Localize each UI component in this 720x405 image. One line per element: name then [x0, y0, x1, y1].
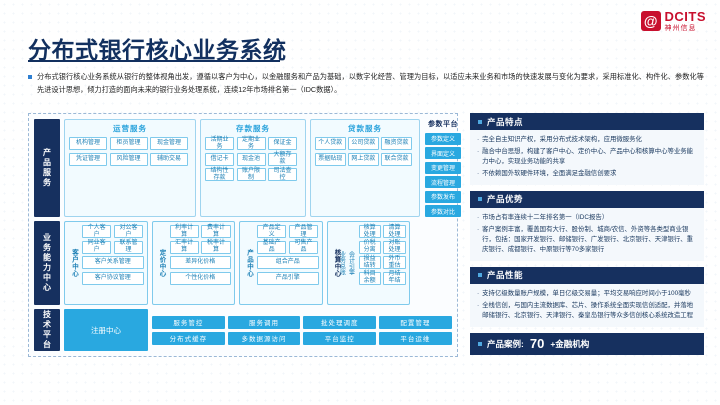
chip-structured-deposit[interactable]: 结构性存款 [205, 168, 234, 181]
card-title-product-performance: 产品性能 [487, 269, 523, 281]
chip-joint-loan[interactable]: 联合贷款 [381, 153, 412, 166]
group-title-loan: 贷款服务 [315, 123, 415, 134]
chip-tax-separation[interactable]: 价税分离 [359, 241, 381, 254]
card-header-product-performance: 产品性能 [470, 267, 704, 284]
chip-sellable-product[interactable]: 可售产品 [289, 241, 318, 254]
feature-point-1: 完全自主知识产权，采用分布式技术架构，应用微服务化 [482, 135, 697, 145]
band-label-tech-platform: 技术平台 [34, 309, 60, 351]
chip-interbank-customer[interactable]: 同业客户 [82, 241, 111, 254]
brand-logo-text: DCITS 神州信息 [665, 10, 707, 32]
card-product-features: 产品特点 ·完全自主知识产权，采用分布式技术架构，应用微服务化 ·融合中台思想，… [470, 113, 704, 185]
chip-account-limit[interactable]: 账户限制 [237, 168, 266, 181]
chip-cash-mgmt[interactable]: 现金管理 [150, 137, 188, 150]
tech-platform-monitor[interactable]: 平台监控 [303, 332, 376, 345]
card-body-product-features: ·完全自主知识产权，采用分布式技术架构，应用微服务化 ·融合中台思想，构建了客户… [470, 130, 704, 185]
chip-contact-mgmt[interactable]: 联系管理 [114, 241, 143, 254]
band-label-product-services: 产品服务 [34, 119, 60, 217]
chip-demand-deposit[interactable]: 活期业务 [205, 137, 234, 150]
chip-time-deposit[interactable]: 定期业务 [237, 137, 266, 150]
lead-paragraph: 分布式银行核心业务系统从银行的整体视角出发，遵循以客户为中心，以金融服务和产品为… [28, 70, 704, 97]
chip-base-product[interactable]: 基础产品 [257, 241, 286, 254]
center-accounting[interactable]: 核算中心 会计引擎 业务总账 核算处理 清算处理 价税分离 对账处理 [327, 221, 411, 305]
brand-logo: @ DCITS 神州信息 [641, 10, 707, 32]
info-panel: 产品特点 ·完全自主知识产权，采用分布式技术架构，应用微服务化 ·融合中台思想，… [470, 113, 704, 355]
band-product-services: 产品服务 运营服务 机构管理 柜员管理 现金管理 凭证管理 风险管理 辅助交易 [34, 119, 452, 217]
slide-page: @ DCITS 神州信息 分布式银行核心业务系统 分布式银行核心业务系统从银行的… [0, 0, 720, 405]
tech-config-mgmt[interactable]: 配置管理 [379, 316, 452, 329]
chip-corporate-customer[interactable]: 对公客户 [114, 225, 143, 238]
bullet-square-icon [28, 75, 32, 79]
dot-icon: · [477, 289, 479, 299]
case-number: 70 [530, 336, 544, 351]
chip-product-engine[interactable]: 产品引擎 [257, 272, 319, 285]
center-name-customer: 客户中心 [68, 225, 79, 301]
bullet-square-icon [478, 273, 482, 277]
tech-service-governance[interactable]: 服务管控 [152, 316, 225, 329]
center-product[interactable]: 产品中心 产品定义 产品管理 基础产品 可售产品 组合产品 产品引擎 [239, 221, 323, 305]
chip-large-deposit[interactable]: 大额存款 [268, 153, 297, 166]
chip-risk-mgmt[interactable]: 风险管理 [110, 153, 148, 166]
center-name-product: 产品中心 [243, 225, 254, 301]
case-label: 产品案例: [487, 338, 524, 350]
chip-differential-price[interactable]: 差异化价格 [170, 256, 232, 269]
band-label-capability-centers: 业务能力中心 [34, 221, 60, 305]
brand-name-en: DCITS [665, 10, 707, 23]
chip-fee-calc[interactable]: 费率计算 [201, 225, 230, 238]
case-suffix: +金融机构 [550, 338, 589, 350]
param-ui-define[interactable]: 界面定义 [425, 147, 461, 159]
chip-interest-calc[interactable]: 利率计算 [170, 225, 199, 238]
param-compare[interactable]: 参数对比 [425, 205, 461, 217]
advantage-point-1: 市场占有率连续十二年排名第一（IDC报告） [482, 213, 697, 223]
dot-icon: · [477, 213, 479, 223]
center-customer[interactable]: 客户中心 个人客户 对公客户 同业客户 联系管理 客户关系管理 客户协议管理 [64, 221, 148, 305]
card-product-cases: 产品案例: 70 +金融机构 [470, 333, 704, 355]
card-body-product-advantages: ·市场占有率连续十二年排名第一（IDC报告） ·客户案例丰富，覆盖国有大行、股份… [470, 208, 704, 261]
chip-aux-trade[interactable]: 辅助交易 [150, 153, 188, 166]
dot-icon: · [477, 301, 479, 321]
band-tech-platform: 技术平台 注册中心 服务管控 服务调用 批处理调度 配置管理 分布式缓存 多数据… [34, 309, 452, 351]
param-publish[interactable]: 参数发布 [425, 191, 461, 203]
chip-cash-pool[interactable]: 现金池 [237, 153, 266, 166]
card-header-product-advantages: 产品优势 [470, 191, 704, 208]
card-product-advantages: 产品优势 ·市场占有率连续十二年排名第一（IDC报告） ·客户案例丰富，覆盖国有… [470, 191, 704, 261]
list-item: ·完全自主知识产权，采用分布式技术架构，应用微服务化 [477, 135, 697, 145]
card-title-product-features: 产品特点 [487, 116, 523, 128]
chip-tax-calc[interactable]: 税率计算 [201, 241, 230, 254]
chip-margin[interactable]: 保证金 [268, 137, 297, 150]
performance-point-2: 全栈信创，与国内主流数据库、芯片、操作系统全面实现信创适配，并落地邮储银行、北京… [482, 301, 697, 321]
parameter-platform: 参数平台 参数定义 界面定义 变更管理 流程管理 参数发布 参数对比 [424, 119, 462, 217]
feature-point-2: 融合中台思想，构建了客户中心、定价中心、产品中心和核算中心等业务能力中心，实现业… [482, 147, 697, 167]
card-body-product-performance: ·支持亿级数量账户规模，单日亿级交易量；平均交易响应时间小于100毫秒 ·全栈信… [470, 284, 704, 327]
chip-personal-customer[interactable]: 个人客户 [82, 225, 111, 238]
accounting-sublabel-engine: 会计引擎 [347, 251, 356, 275]
chip-org-mgmt[interactable]: 机构管理 [69, 137, 107, 150]
tech-service-invocation[interactable]: 服务调用 [228, 316, 301, 329]
chip-judicial-control[interactable]: 司法查控 [268, 168, 297, 181]
architecture-panel: 产品服务 运营服务 机构管理 柜员管理 现金管理 凭证管理 风险管理 辅助交易 [28, 113, 458, 357]
card-title-product-advantages: 产品优势 [487, 193, 523, 205]
group-loan-services[interactable]: 贷款服务 个人贷款 公司贷款 融资贷款 票据贴现 网上贷款 联合贷款 [310, 119, 420, 217]
title-underline [28, 60, 280, 62]
group-operation-services[interactable]: 运营服务 机构管理 柜员管理 现金管理 凭证管理 风险管理 辅助交易 [64, 119, 196, 217]
chip-product-define[interactable]: 产品定义 [257, 225, 286, 238]
dot-icon: · [477, 135, 479, 145]
accounting-sublabel-ledger: 业务总账 [338, 251, 347, 275]
param-process-mgmt[interactable]: 流程管理 [425, 176, 461, 188]
accounting-sublabels: 会计引擎 业务总账 [345, 225, 356, 301]
feature-point-3: 不依赖国外软硬件环境，全面满足金融信创要求 [482, 169, 697, 179]
chip-product-mgmt[interactable]: 产品管理 [289, 225, 318, 238]
bullet-square-icon [478, 342, 482, 346]
brand-name-cn: 神州信息 [665, 25, 707, 32]
list-item: ·支持亿级数量账户规模，单日亿级交易量；平均交易响应时间小于100毫秒 [477, 289, 697, 299]
chip-fx-calc[interactable]: 汇率计算 [170, 241, 199, 254]
list-item: ·融合中台思想，构建了客户中心、定价中心、产品中心和核算中心等业务能力中心，实现… [477, 147, 697, 167]
chip-voucher-mgmt[interactable]: 凭证管理 [69, 153, 107, 166]
advantage-point-2: 客户案例丰富，覆盖国有大行、股份制、城商/农信、外资等各类型商业银行，包括：国家… [482, 225, 697, 255]
chip-online-loan[interactable]: 网上贷款 [348, 153, 379, 166]
parameter-platform-title: 参数平台 [428, 119, 458, 129]
group-title-operation: 运营服务 [69, 123, 191, 134]
dot-icon: · [477, 147, 479, 167]
dot-icon: · [477, 225, 479, 255]
chip-teller-mgmt[interactable]: 柜员管理 [110, 137, 148, 150]
list-item: ·不依赖国外软硬件环境，全面满足金融信创要求 [477, 169, 697, 179]
performance-point-1: 支持亿级数量账户规模，单日亿级交易量；平均交易响应时间小于100毫秒 [482, 289, 697, 299]
group-deposit-services[interactable]: 存款服务 活期业务 定期业务 保证金 借记卡 现金池 大额存款 结构性存款 账户… [200, 119, 306, 217]
dot-icon: · [477, 169, 479, 179]
chip-corporate-loan[interactable]: 公司贷款 [348, 137, 379, 150]
chip-fx-revaluation[interactable]: 外币重估 [383, 256, 405, 269]
chip-debit-card[interactable]: 借记卡 [205, 153, 234, 166]
chip-customer-agreement-mgmt[interactable]: 客户协议管理 [82, 272, 144, 285]
lead-text: 分布式银行核心业务系统从银行的整体视角出发，遵循以客户为中心，以金融服务和产品为… [37, 70, 704, 97]
group-title-deposit: 存款服务 [205, 123, 301, 134]
chip-bill-discount[interactable]: 票据贴现 [315, 153, 346, 166]
bullet-square-icon [478, 120, 482, 124]
tech-batch-scheduling[interactable]: 批处理调度 [303, 316, 376, 329]
list-item: ·市场占有率连续十二年排名第一（IDC报告） [477, 213, 697, 223]
card-header-product-features: 产品特点 [470, 113, 704, 130]
chip-customer-relationship-mgmt[interactable]: 客户关系管理 [82, 256, 144, 269]
bullet-square-icon [478, 197, 482, 201]
chip-pl-carryover[interactable]: 损益结转 [359, 256, 381, 269]
param-define[interactable]: 参数定义 [425, 133, 461, 145]
chip-settlement-process[interactable]: 清算处理 [383, 225, 405, 238]
tech-platform-ops[interactable]: 平台运维 [379, 332, 452, 345]
chip-accounting-process[interactable]: 核算处理 [359, 225, 381, 238]
chip-subject-balance[interactable]: 科目余额 [359, 272, 381, 285]
chip-personal-loan[interactable]: 个人贷款 [315, 137, 346, 150]
list-item: ·客户案例丰富，覆盖国有大行、股份制、城商/农信、外资等各类型商业银行，包括：国… [477, 225, 697, 255]
band-capability-centers: 业务能力中心 客户中心 个人客户 对公客户 同业客户 联系管理 客户关系管理 客… [34, 221, 452, 305]
chip-month-year-end[interactable]: 月结年结 [383, 272, 405, 285]
param-change-mgmt[interactable]: 变更管理 [425, 162, 461, 174]
chip-combined-product[interactable]: 组合产品 [257, 256, 319, 269]
tech-distributed-cache[interactable]: 分布式缓存 [152, 332, 225, 345]
center-pricing[interactable]: 定价中心 利率计算 费率计算 汇率计算 税率计算 差异化价格 个性化价格 [152, 221, 236, 305]
list-item: ·全栈信创，与国内主流数据库、芯片、操作系统全面实现信创适配，并落地邮储银行、北… [477, 301, 697, 321]
chip-reconciliation[interactable]: 对账处理 [383, 241, 405, 254]
tech-multi-datasource[interactable]: 多数据源访问 [228, 332, 301, 345]
chip-financing-loan[interactable]: 融资贷款 [381, 137, 412, 150]
tech-registry-center[interactable]: 注册中心 [64, 309, 148, 351]
dcits-swirl-icon: @ [641, 11, 661, 31]
card-product-performance: 产品性能 ·支持亿级数量账户规模，单日亿级交易量；平均交易响应时间小于100毫秒… [470, 267, 704, 327]
chip-personalized-price[interactable]: 个性化价格 [170, 272, 232, 285]
center-name-pricing: 定价中心 [156, 225, 167, 301]
